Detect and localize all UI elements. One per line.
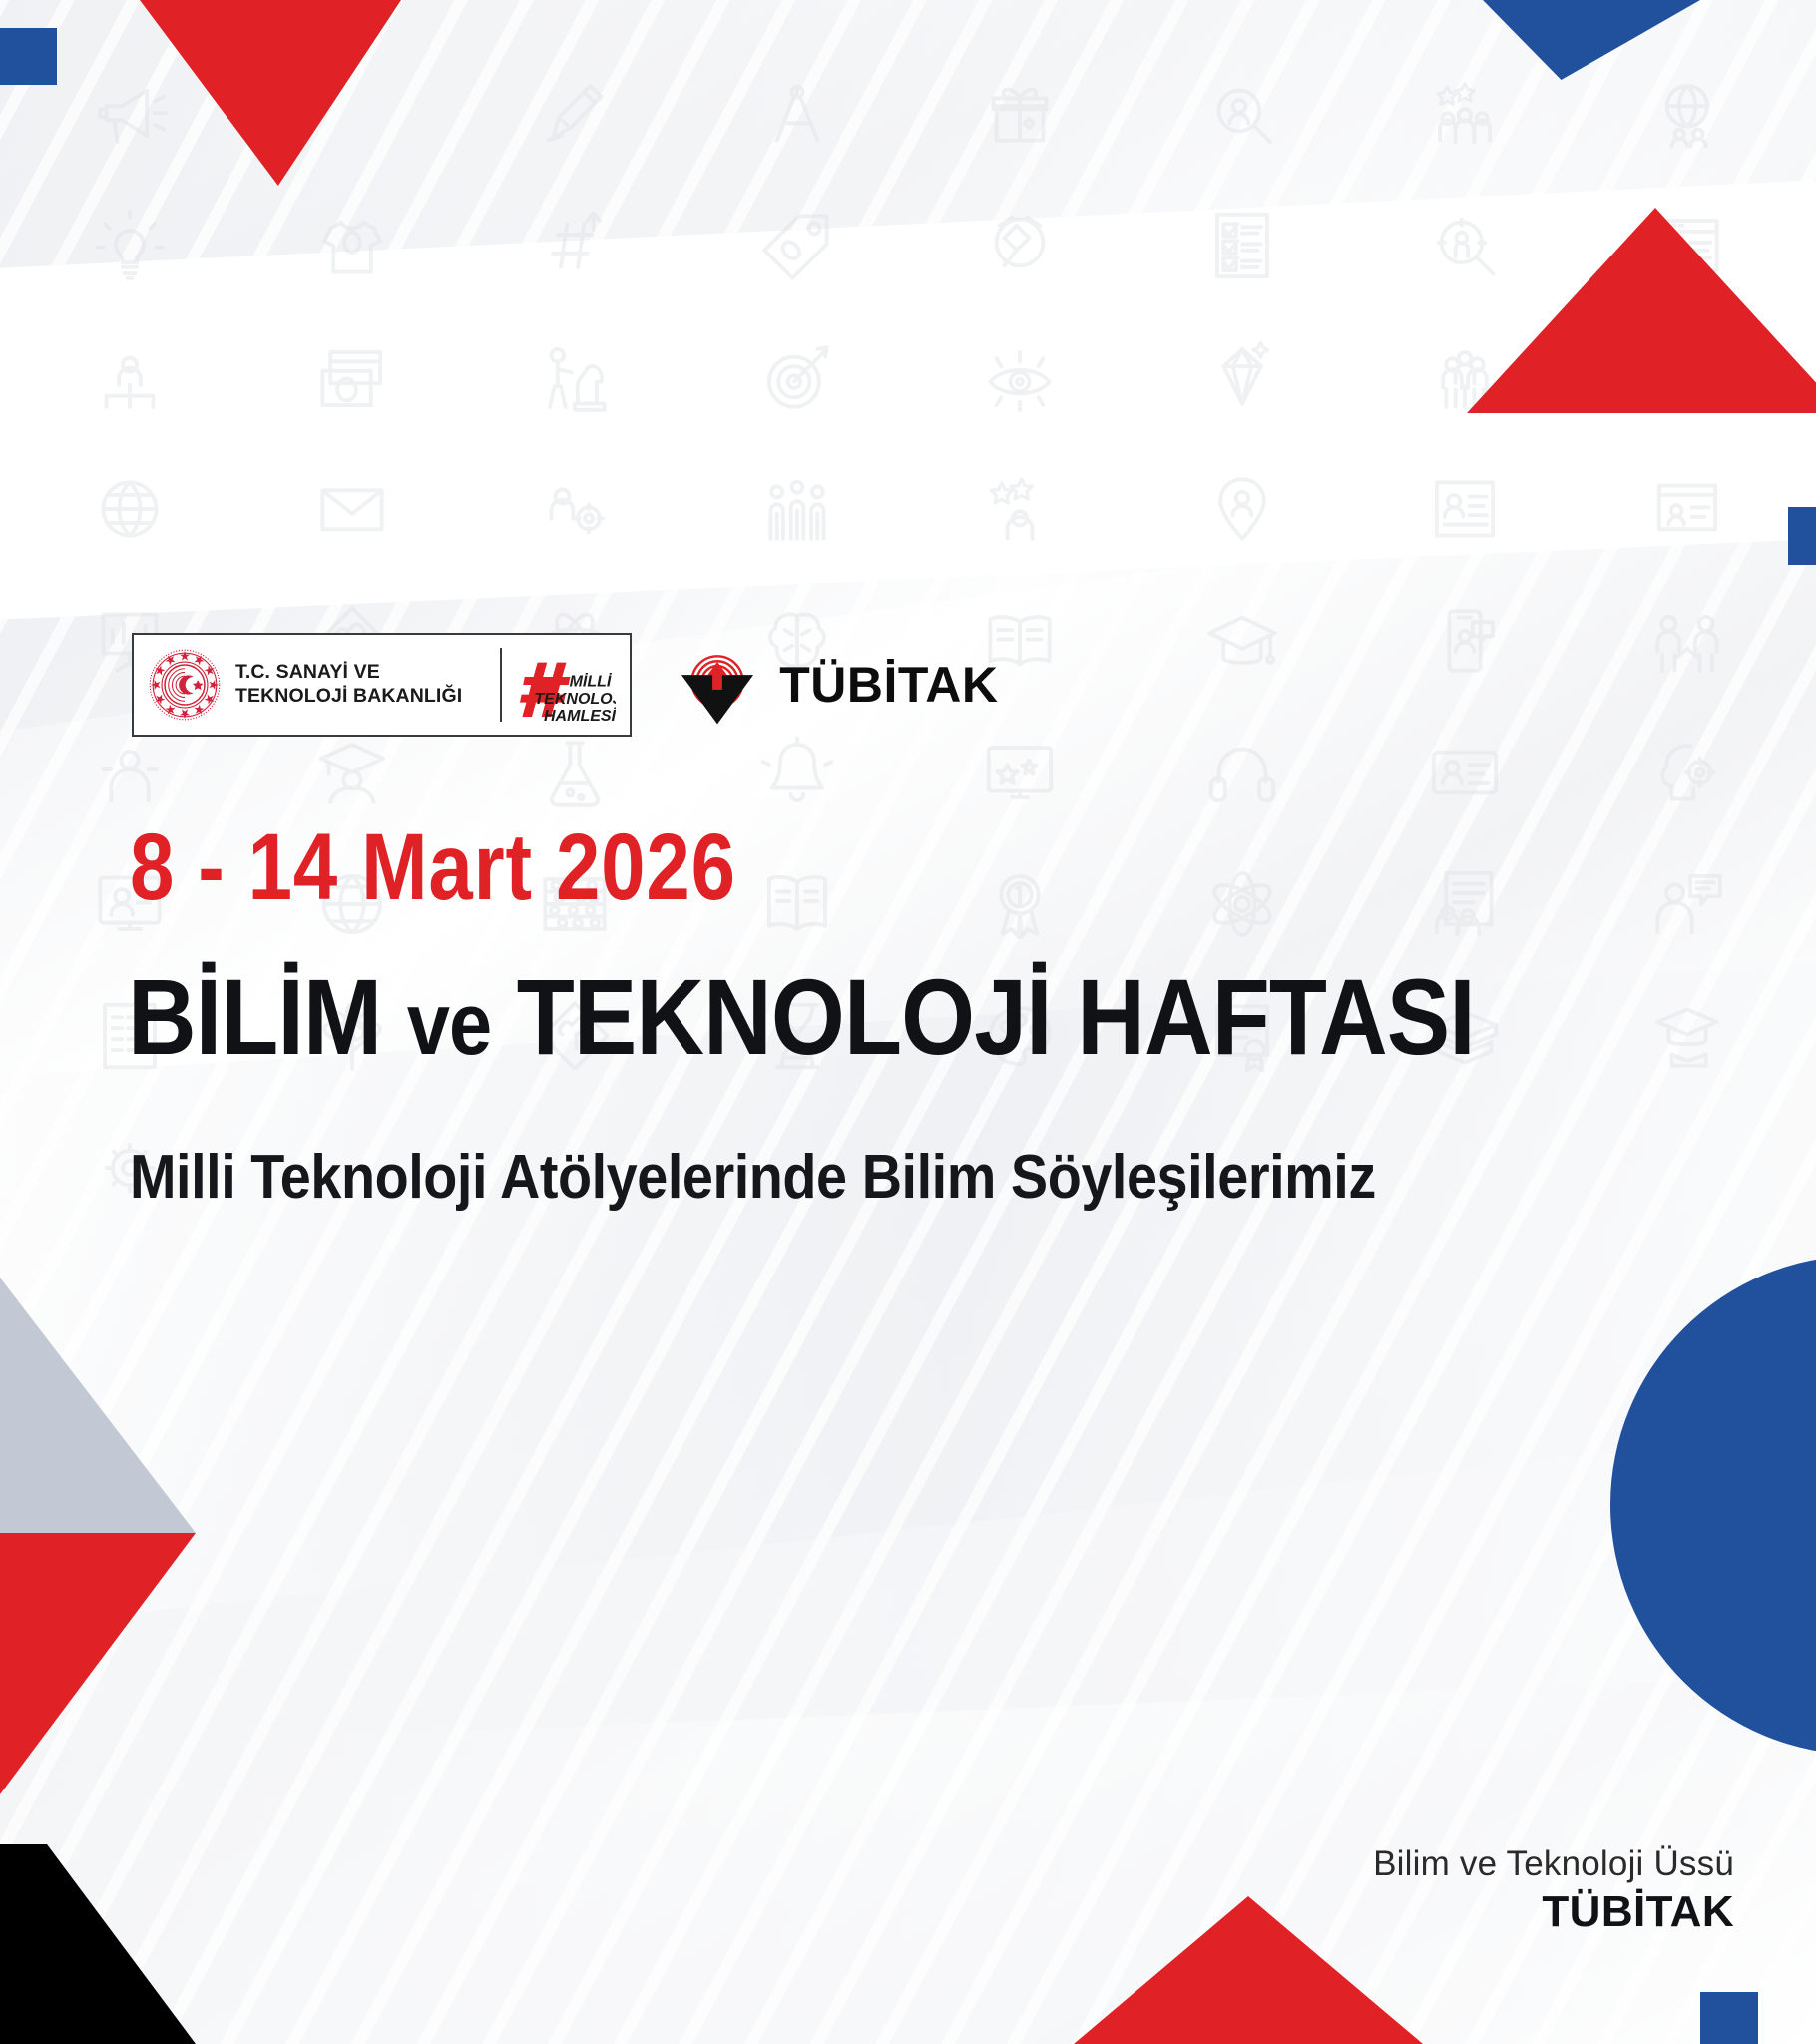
ministry-line-1: T.C. SANAYİ VE — [235, 661, 380, 683]
ministry-line-2: TEKNOLOJİ BAKANLIĞI — [235, 685, 462, 707]
poster-canvas: T.C. SANAYİ VE TEKNOLOJİ BAKANLIĞI MİLLİ… — [0, 0, 1816, 2044]
page-subtitle: Milli Teknoloji Atölyelerinde Bilim Söyl… — [130, 1144, 1376, 1212]
ministry-logo-text: T.C. SANAYİ VE TEKNOLOJİ BAKANLIĞI — [235, 661, 462, 709]
ministry-logo: T.C. SANAYİ VE TEKNOLOJİ BAKANLIĞI — [148, 648, 482, 722]
milli-teknoloji-hamlesi-icon: MİLLİ TEKNOLOJİ HAMLESİ — [520, 644, 616, 726]
tubitak-triangle-icon — [674, 644, 761, 726]
headline-part-2: TEKNOLOJİ HAFTASI — [517, 956, 1475, 1077]
mth-line-3: HAMLESİ — [544, 707, 616, 725]
footer-brand: TÜBİTAK — [1373, 1888, 1734, 1936]
poster-content: T.C. SANAYİ VE TEKNOLOJİ BAKANLIĞI MİLLİ… — [0, 0, 1816, 2044]
footer-tagline: Bilim ve Teknoloji Üssü — [1373, 1842, 1734, 1886]
event-date: 8 - 14 Mart 2026 — [130, 820, 736, 915]
mth-line-2: TEKNOLOJİ — [535, 690, 617, 708]
headline-conjunction: ve — [407, 974, 491, 1073]
turkish-ministry-seal-icon — [148, 648, 222, 722]
logo-divider — [500, 648, 502, 722]
mth-line-1: MİLLİ — [570, 673, 613, 691]
tubitak-wordmark: TÜBİTAK — [779, 656, 998, 714]
page-title: BİLİM ve TEKNOLOJİ HAFTASI — [128, 960, 1475, 1074]
logo-bar: T.C. SANAYİ VE TEKNOLOJİ BAKANLIĞI MİLLİ… — [132, 633, 998, 737]
headline-part-1: BİLİM — [128, 956, 381, 1077]
ministry-logo-box: T.C. SANAYİ VE TEKNOLOJİ BAKANLIĞI MİLLİ… — [132, 633, 632, 737]
footer-block: Bilim ve Teknoloji Üssü TÜBİTAK — [1373, 1842, 1734, 1936]
tubitak-logo: TÜBİTAK — [674, 644, 998, 726]
